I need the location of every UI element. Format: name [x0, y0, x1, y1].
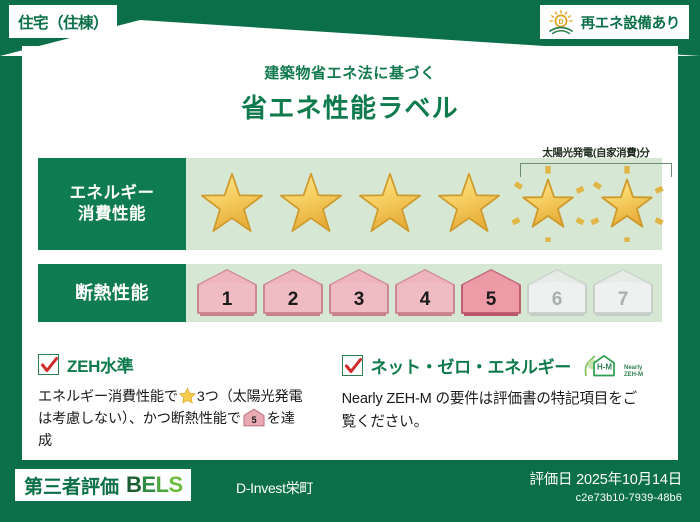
zeh-logo-hm-text: H-M [597, 363, 612, 372]
energy-stars-field: 太陽光発電(自家消費)分 [186, 158, 662, 250]
owner-name: D-Invest栄町 [236, 478, 313, 498]
svg-text:1: 1 [222, 289, 233, 310]
energy-performance-row: エネルギー 消費性能 太陽光発電(自家消費)分 [38, 158, 662, 250]
insulation-levels-field: 1234567 [186, 264, 662, 322]
insulation-row-title-label: 断熱性能 [75, 282, 149, 305]
star-icon [196, 168, 268, 240]
nze-check-header: ネット・ゼロ・エネルギー H-M Nearly ZEH-M [342, 352, 650, 379]
house-badge-5-icon: 5 [243, 408, 265, 427]
svg-text:3: 3 [354, 289, 365, 310]
star-icon [354, 168, 426, 240]
sparkle-mark [594, 183, 600, 187]
sparkle-mark [576, 220, 583, 223]
insulation-level-scale: 1234567 [194, 264, 656, 322]
evaluation-id: c2e73b10-7939-48b6 [529, 492, 682, 504]
star-icon [433, 168, 505, 240]
nearly-zeh-m-logo: H-M Nearly ZEH-M [583, 352, 650, 379]
zeh-check-header: ZEH水準 [38, 352, 308, 377]
insulation-performance-row: 断熱性能 1234567 [38, 264, 662, 322]
insulation-row-title: 断熱性能 [38, 264, 186, 322]
nze-check-body: Nearly ZEH-M の要件は評価書の特記項目をご覧ください。 [342, 388, 650, 435]
bels-certification-box: 第三者評価 BELS [15, 469, 191, 501]
insulation-level-7: 7 [590, 264, 656, 322]
label-footer: 第三者評価 BELS D-Invest栄町 評価日 2025年10月14日 c2… [0, 460, 700, 522]
nze-checkbox [342, 355, 363, 376]
energy-row-title-line2: 消費性能 [78, 204, 146, 225]
zeh-house-icon: H-M [583, 352, 623, 379]
insulation-level-6: 6 [524, 264, 590, 322]
insulation-level-3: 3 [326, 264, 392, 322]
energy-row-title-line1: エネルギー [70, 183, 155, 204]
solar-bracket-label: 太陽光発電(自家消費)分 [508, 145, 684, 160]
housing-type-label: 住宅（住棟） [18, 11, 108, 33]
insulation-level-5: 5 [458, 264, 524, 322]
renewable-equipment-badge: D 再エネ設備あり [540, 5, 689, 39]
insulation-level-2: 2 [260, 264, 326, 322]
label-title-block: 建築物省エネ法に基づく 省エネ性能ラベル [0, 62, 700, 125]
star-filled [429, 158, 508, 250]
bels-jp-label: 第三者評価 [24, 472, 119, 499]
house-badge-icon: 1 [196, 268, 258, 318]
house-badge-icon: 7 [592, 268, 654, 318]
zeh-body-part1: エネルギー消費性能で [38, 389, 178, 405]
star-filled [271, 158, 350, 250]
house-badge-icon: 4 [394, 268, 456, 318]
renewable-badge-label: 再エネ設備あり [581, 12, 680, 33]
solar-bracket [520, 163, 672, 177]
svg-text:5: 5 [486, 289, 497, 310]
evaluation-date: 評価日 2025年10月14日 [529, 468, 682, 489]
title-main: 省エネ性能ラベル [0, 88, 700, 125]
zeh-checkbox [38, 354, 59, 375]
star-icon [179, 387, 196, 404]
svg-text:2: 2 [288, 289, 299, 310]
check-icon [343, 356, 364, 377]
nze-check-title: ネット・ゼロ・エネルギー [371, 353, 571, 378]
house-badge-icon: 2 [262, 268, 324, 318]
house-badge-icon: 3 [328, 268, 390, 318]
check-icon [39, 355, 60, 376]
svg-text:D: D [558, 19, 563, 26]
insulation-level-1: 1 [194, 264, 260, 322]
svg-text:7: 7 [618, 289, 629, 310]
criteria-zeh-standard: ZEH水準 エネルギー消費性能で3つ（太陽光発電は考慮しない）、かつ断熱性能で5… [38, 352, 322, 452]
criteria-net-zero-energy: ネット・ゼロ・エネルギー H-M Nearly ZEH-M Nearly ZEH… [322, 352, 664, 452]
solar-sun-icon: D [546, 9, 576, 35]
sparkle-mark [655, 220, 662, 223]
star-icon [275, 168, 347, 240]
svg-text:5: 5 [251, 415, 256, 425]
svg-text:4: 4 [420, 289, 431, 310]
zeh-logo-caption: Nearly ZEH-M [624, 361, 650, 379]
sparkle-mark [515, 183, 521, 187]
evaluation-info: 評価日 2025年10月14日 c2e73b10-7939-48b6 [529, 468, 682, 504]
house-badge-icon: 6 [526, 268, 588, 318]
sparkle-mark [512, 220, 519, 223]
star-icon [589, 166, 665, 242]
svg-text:6: 6 [552, 289, 563, 310]
zeh-check-body: エネルギー消費性能で3つ（太陽光発電は考慮しない）、かつ断熱性能で5を達成 [38, 386, 308, 452]
sparkle-mark [591, 220, 598, 223]
zeh-logo-sub1: Nearly [624, 365, 643, 371]
housing-type-tag: 住宅（住棟） [9, 5, 117, 38]
zeh-logo-sub2: ZEH-M [624, 372, 643, 378]
bels-en-label: BELS [126, 472, 183, 498]
house-badge-icon: 5 [460, 268, 522, 318]
star-filled [350, 158, 429, 250]
sparkle-mark [576, 188, 583, 191]
title-subtitle: 建築物省エネ法に基づく [0, 62, 700, 83]
zeh-check-title: ZEH水準 [67, 352, 134, 377]
energy-performance-label: 住宅（住棟） D 再エネ設備あり 建築物省エネ法に基づく 省エネ性能ラベル [0, 0, 700, 522]
sparkle-mark [655, 188, 662, 191]
star-filled [192, 158, 271, 250]
insulation-level-4: 4 [392, 264, 458, 322]
star-icon [510, 166, 586, 242]
criteria-section: ZEH水準 エネルギー消費性能で3つ（太陽光発電は考慮しない）、かつ断熱性能で5… [38, 352, 664, 452]
energy-row-title: エネルギー 消費性能 [38, 158, 186, 250]
